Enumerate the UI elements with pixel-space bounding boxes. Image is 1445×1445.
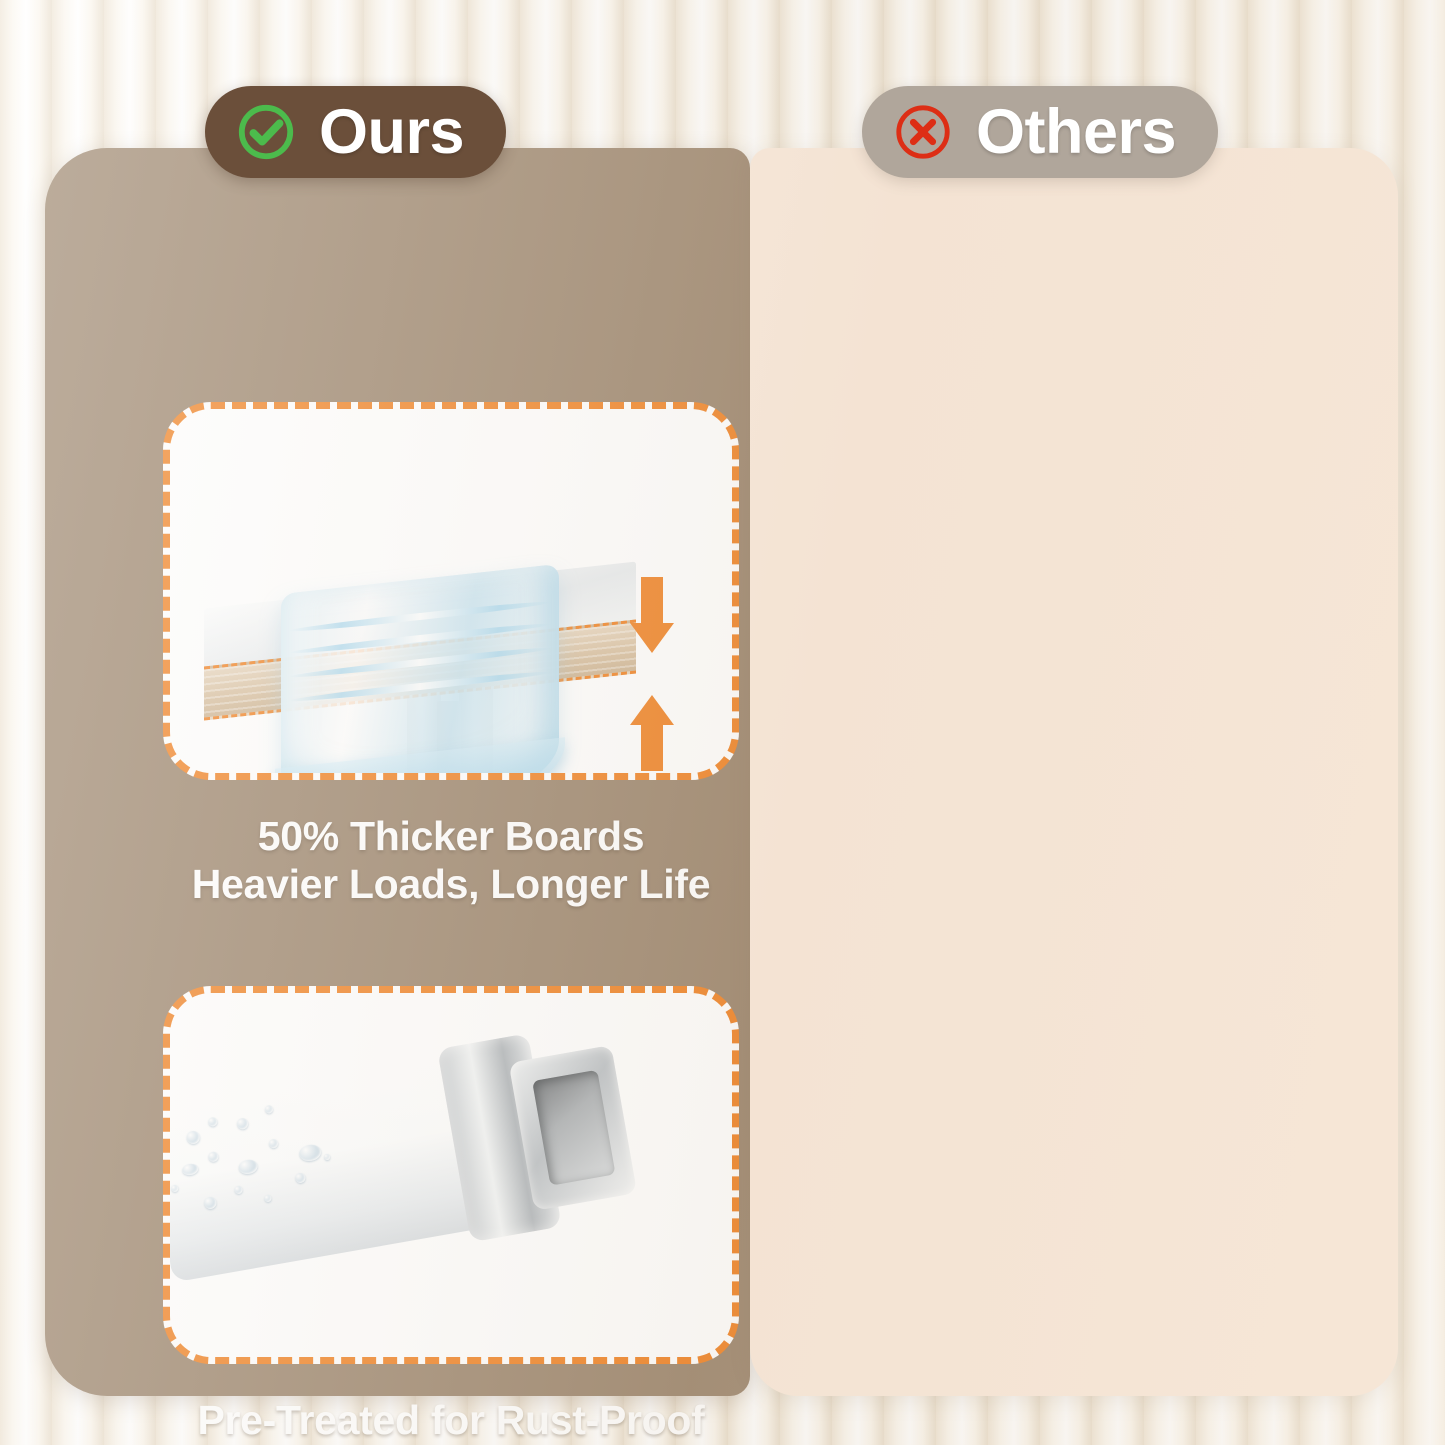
circle-check-icon	[235, 101, 297, 163]
others-column-card: Thin Boards — Break Easily Easy to Rust …	[750, 148, 1398, 1396]
thick-board-scene	[170, 409, 732, 773]
circle-x-icon	[892, 101, 954, 163]
ours-badge: Ours	[205, 86, 506, 178]
thick-board	[204, 562, 636, 727]
coated-tube-scene	[170, 993, 732, 1357]
thickness-arrow-down-icon	[630, 577, 674, 653]
others-badge: Others	[862, 86, 1218, 178]
water-jug	[281, 564, 559, 780]
ours-column-card: 50% Thicker Boards Heavier Loads, Longer…	[45, 148, 750, 1396]
ours-rustproof-caption: Pre-Treated for Rust-Proof Long-Lasting …	[153, 1396, 749, 1445]
jug-base	[275, 737, 565, 780]
ours-badge-label: Ours	[319, 101, 464, 164]
ours-thick-board-caption: 50% Thicker Boards Heavier Loads, Longer…	[163, 812, 739, 909]
thickness-arrow-up-icon	[630, 695, 674, 771]
others-badge-label: Others	[976, 101, 1176, 164]
ours-rustproof-tube-photo	[163, 986, 739, 1364]
white-coated-tube	[163, 1012, 642, 1312]
infographic-canvas: 50% Thicker Boards Heavier Loads, Longer…	[0, 0, 1445, 1445]
ours-thick-board-photo	[163, 402, 739, 780]
